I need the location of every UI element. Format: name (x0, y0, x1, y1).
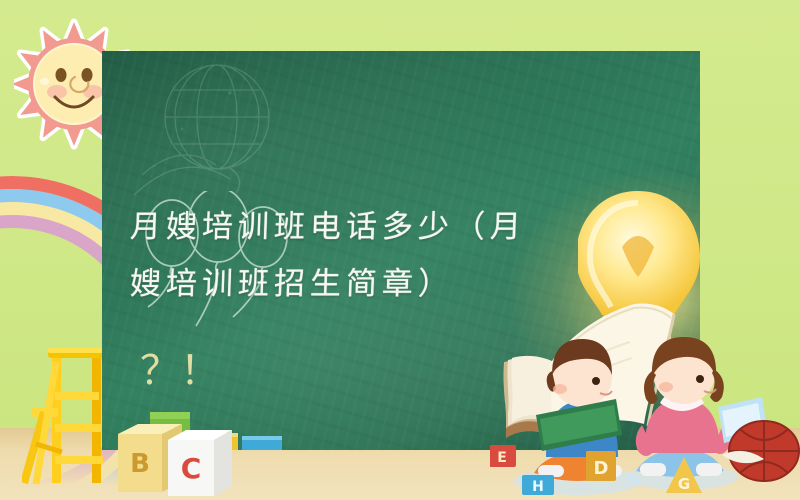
svg-text:B: B (130, 449, 150, 479)
block-c: C (168, 430, 232, 496)
svg-text:C: C (181, 452, 202, 485)
children-reading-illustration: E D H G (490, 285, 800, 500)
girl-figure (636, 337, 731, 477)
svg-text:E: E (497, 450, 507, 466)
svg-text:D: D (594, 458, 609, 479)
punctuation-doodle: ？！ (140, 351, 220, 391)
banner-canvas: 月嫂培训班电话多少（月嫂培训班招生简章） (0, 0, 800, 500)
svg-text:G: G (678, 475, 690, 493)
abc-blocks-group: A B C (112, 412, 252, 496)
svg-text:H: H (532, 479, 544, 495)
